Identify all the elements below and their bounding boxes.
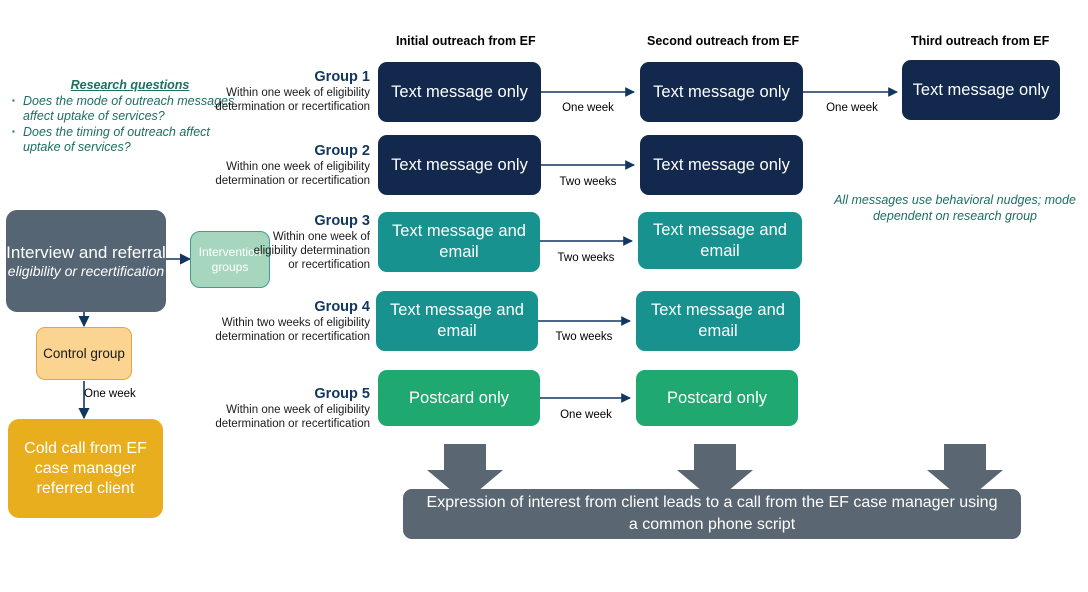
group-description-2: Within one week of eligibility determina… — [215, 160, 370, 188]
behavioral-nudges-note: All messages use behavioral nudges; mode… — [830, 193, 1080, 224]
group-5-step-2-label: Postcard only — [636, 388, 798, 409]
group-5-arrow-label-1: One week — [546, 409, 626, 421]
column-header-initial-outreach: Initial outreach from EF — [396, 34, 536, 48]
group-name-5: Group 5 — [215, 385, 370, 403]
control-group-box[interactable]: Control group — [36, 327, 132, 380]
group-name-3: Group 3 — [245, 212, 370, 230]
group-1-arrow-label-1: One week — [548, 102, 628, 114]
group-label-2: Group 2 Within one week of eligibility d… — [215, 142, 370, 188]
column-header-third-outreach: Third outreach from EF — [911, 34, 1049, 48]
column-header-second-outreach: Second outreach from EF — [647, 34, 799, 48]
interview-title: Interview and referral — [6, 242, 166, 263]
group-description-4: Within two weeks of eligibility determin… — [215, 316, 370, 344]
group-label-1: Group 1 Within one week of eligibility d… — [215, 68, 370, 114]
research-questions-block: Research questions Does the mode of outr… — [10, 78, 250, 156]
group-3-step-1-label: Text message and email — [378, 221, 540, 263]
group-4-step-1-label: Text message and email — [376, 300, 538, 342]
group-1-step-3-box[interactable]: Text message only — [902, 60, 1060, 120]
research-question-item: Does the timing of outreach affect uptak… — [10, 125, 250, 155]
group-2-step-1-label: Text message only — [378, 155, 541, 176]
group-1-step-2-label: Text message only — [640, 82, 803, 103]
group-1-step-1-label: Text message only — [378, 82, 541, 103]
group-description-5: Within one week of eligibility determina… — [215, 403, 370, 431]
group-5-step-1-label: Postcard only — [378, 388, 540, 409]
research-questions-title: Research questions — [10, 78, 250, 93]
group-description-3: Within one week of eligibility determina… — [245, 230, 370, 272]
group-3-step-2-label: Text message and email — [638, 220, 802, 262]
control-arrow-label: One week — [84, 388, 184, 400]
group-label-4: Group 4 Within two weeks of eligibility … — [215, 298, 370, 344]
research-questions-list: Does the mode of outreach messages affec… — [10, 94, 250, 155]
group-name-2: Group 2 — [215, 142, 370, 160]
group-name-1: Group 1 — [215, 68, 370, 86]
group-1-step-2-box[interactable]: Text message only — [640, 62, 803, 122]
control-group-label: Control group — [37, 346, 131, 361]
interview-and-referral-box[interactable]: Interview and referral eligibility or re… — [6, 210, 166, 312]
group-1-step-1-box[interactable]: Text message only — [378, 62, 541, 122]
group-4-step-2-label: Text message and email — [636, 300, 800, 342]
group-label-5: Group 5 Within one week of eligibility d… — [215, 385, 370, 431]
group-3-step-1-box[interactable]: Text message and email — [378, 212, 540, 272]
outcome-label: Expression of interest from client leads… — [421, 492, 1003, 536]
group-1-arrow-label-2: One week — [812, 102, 892, 114]
group-5-step-1-box[interactable]: Postcard only — [378, 370, 540, 426]
group-name-4: Group 4 — [215, 298, 370, 316]
group-2-step-2-label: Text message only — [640, 155, 803, 176]
research-question-item: Does the mode of outreach messages affec… — [10, 94, 250, 124]
group-3-arrow-label-1: Two weeks — [546, 252, 626, 264]
cold-call-label: Cold call from EF case manager referred … — [8, 439, 163, 499]
group-label-3: Group 3 Within one week of eligibility d… — [245, 212, 370, 272]
group-3-step-2-box[interactable]: Text message and email — [638, 212, 802, 269]
interview-subtitle: eligibility or recertification — [6, 263, 166, 280]
group-5-step-2-box[interactable]: Postcard only — [636, 370, 798, 426]
group-4-arrow-label-1: Two weeks — [544, 331, 624, 343]
group-description-1: Within one week of eligibility determina… — [215, 86, 370, 114]
group-2-step-2-box[interactable]: Text message only — [640, 135, 803, 195]
group-1-step-3-label: Text message only — [902, 80, 1060, 101]
group-2-arrow-label-1: Two weeks — [548, 176, 628, 188]
group-4-step-1-box[interactable]: Text message and email — [376, 291, 538, 351]
group-4-step-2-box[interactable]: Text message and email — [636, 291, 800, 351]
group-2-step-1-box[interactable]: Text message only — [378, 135, 541, 195]
outcome-box[interactable]: Expression of interest from client leads… — [403, 489, 1021, 539]
cold-call-box[interactable]: Cold call from EF case manager referred … — [8, 419, 163, 518]
